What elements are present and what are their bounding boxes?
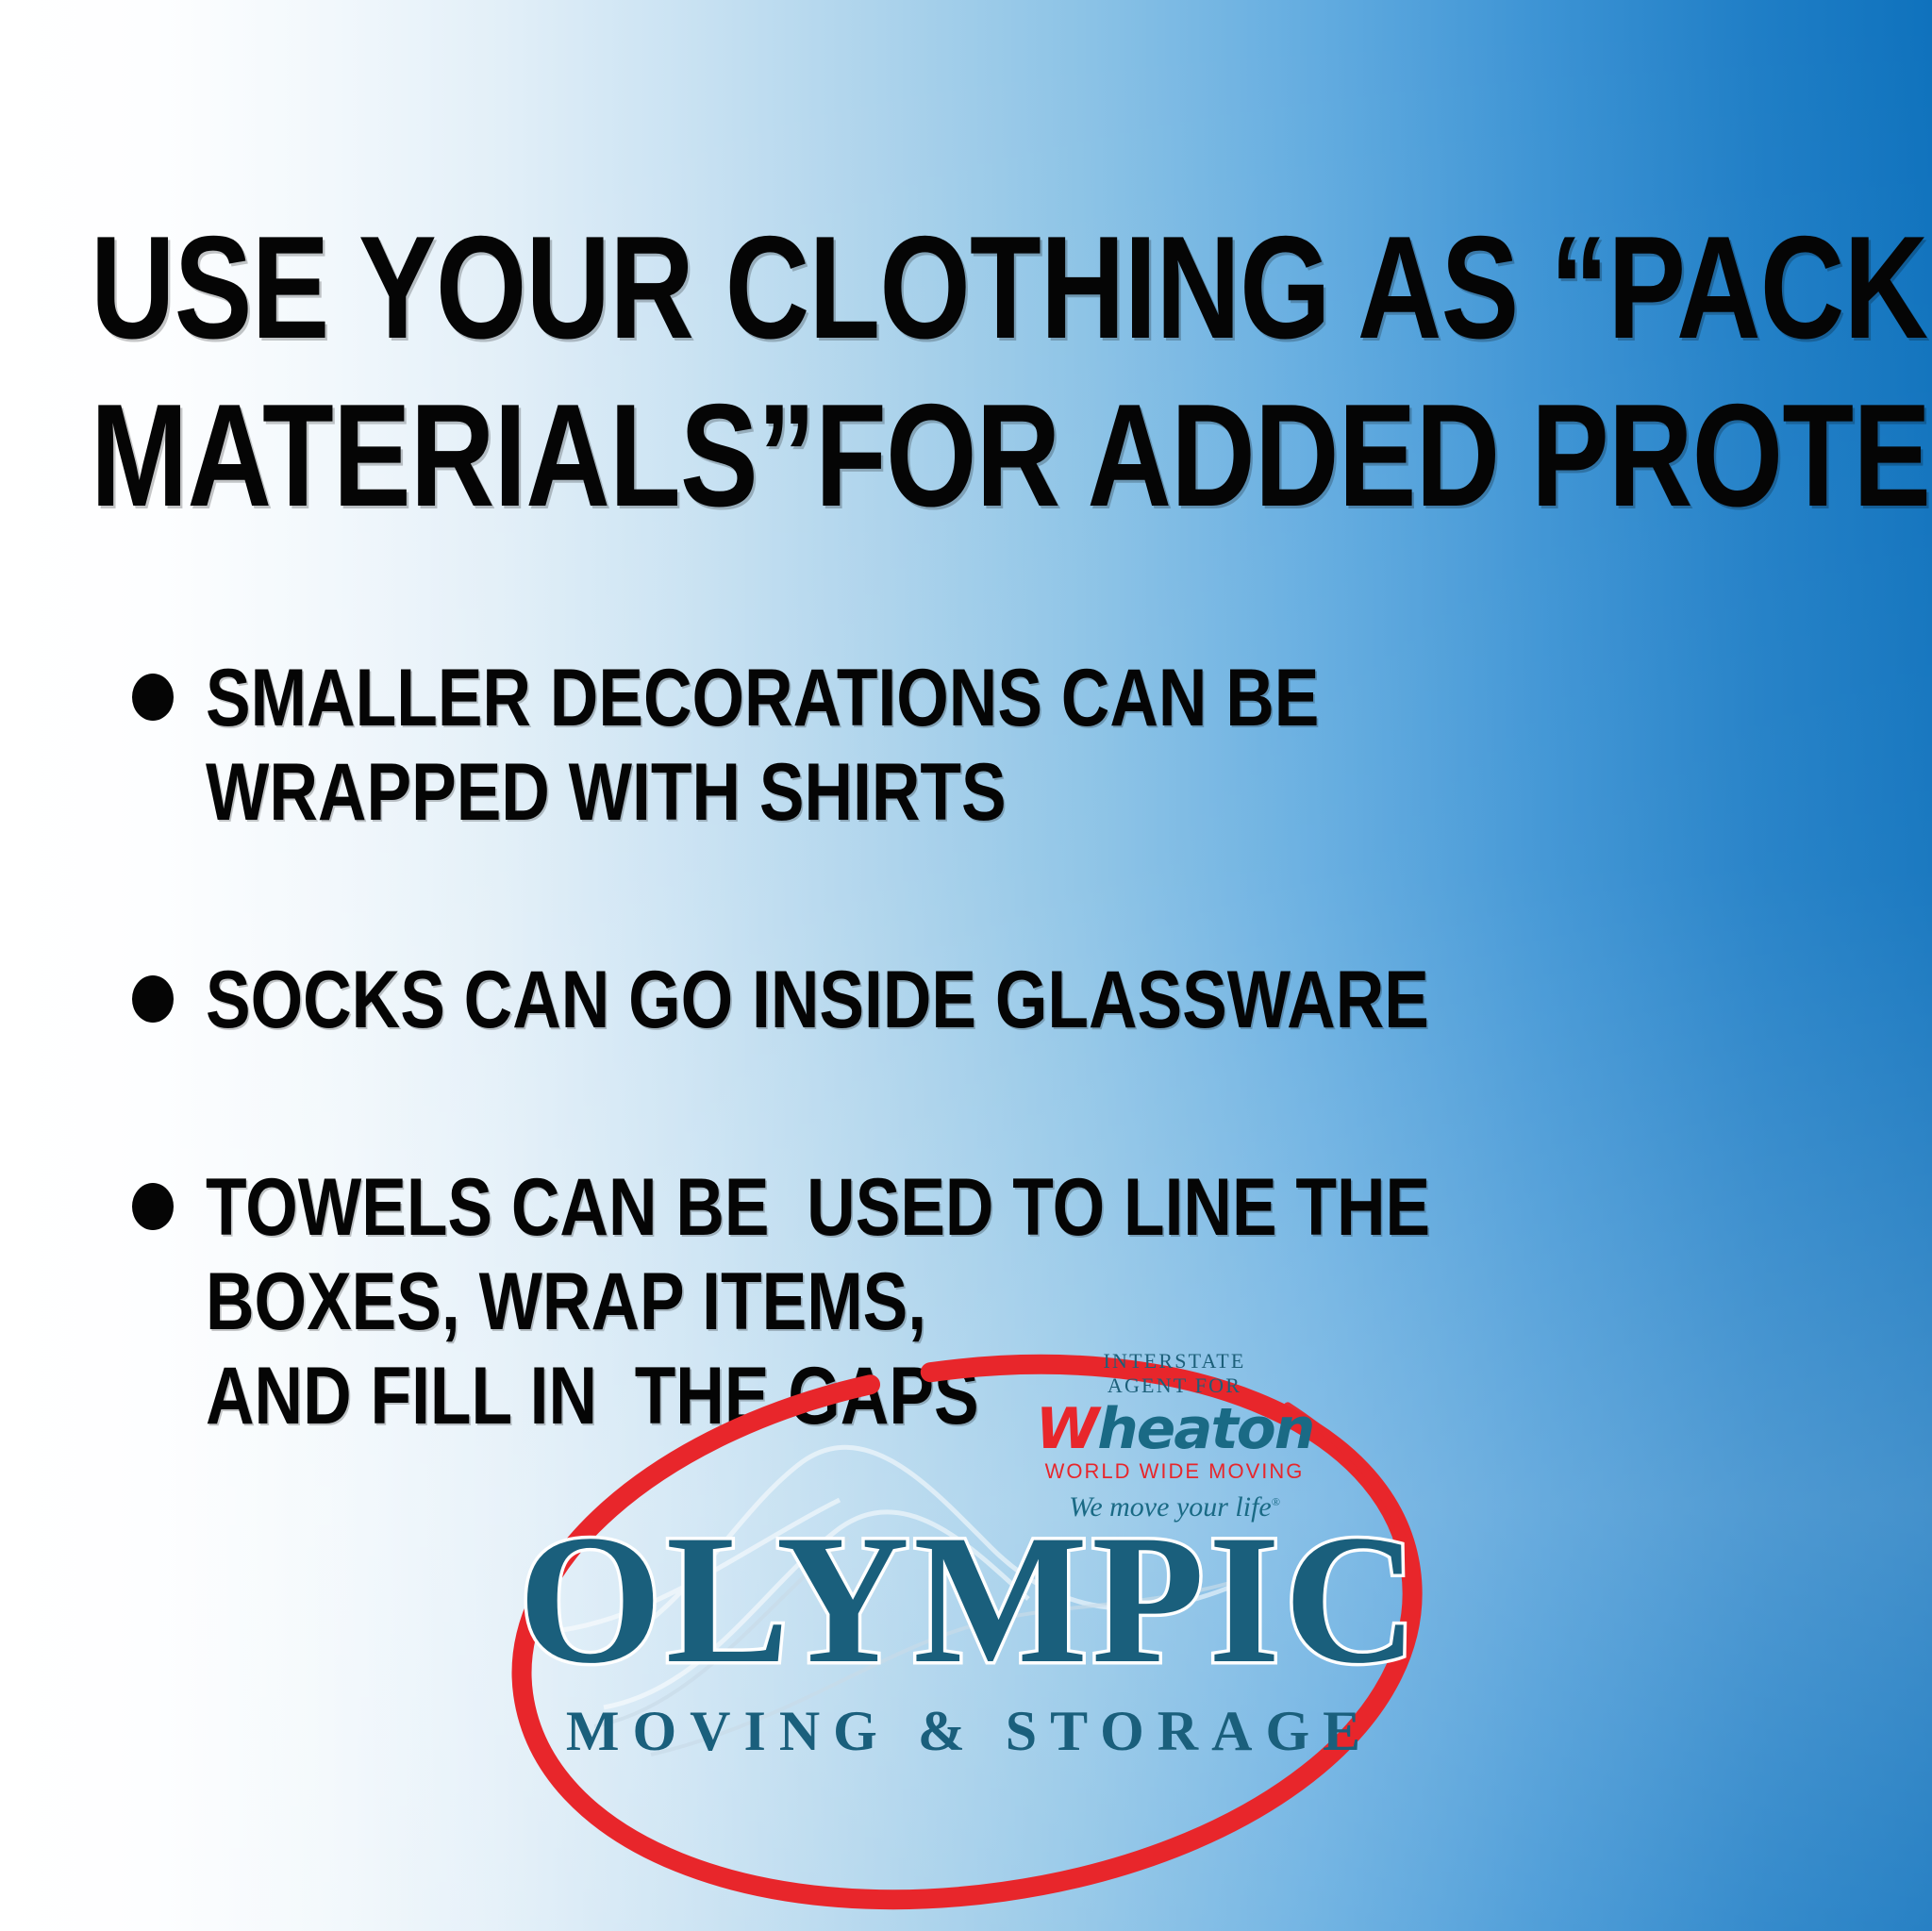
wheaton-wordmark: Wheaton <box>1011 1400 1339 1458</box>
headline: USE YOUR CLOTHING AS “PACKING MATERIALS”… <box>91 204 1864 540</box>
list-item: SMALLER DECORATIONS CAN BE WRAPPED WITH … <box>132 651 1887 840</box>
company-logo: INTERSTATE AGENT FOR Wheaton WORLD WIDE … <box>462 1349 1472 1915</box>
list-item: SOCKS CAN GO INSIDE GLASSWARE <box>132 953 1887 1047</box>
wheaton-kicker-line-1: INTERSTATE <box>1014 1349 1335 1373</box>
bullet-dot-icon <box>132 674 174 721</box>
poster-canvas: USE YOUR CLOTHING AS “PACKING MATERIALS”… <box>0 0 1932 1931</box>
olympic-subtitle: MOVING & STORAGE <box>517 1700 1423 1762</box>
bullet-dot-icon <box>132 1183 174 1230</box>
bullet-dot-icon <box>132 975 174 1023</box>
wheaton-kicker-line-2: AGENT FOR <box>1014 1373 1335 1398</box>
bullet-text-1: SMALLER DECORATIONS CAN BE WRAPPED WITH … <box>206 651 1601 840</box>
wheaton-rest-letters: heaton <box>1097 1396 1313 1462</box>
headline-line-2: MATERIALS”FOR ADDED PROTECTION <box>91 372 1509 540</box>
olympic-wordmark: OLYMPIC <box>517 1506 1423 1694</box>
bullet-text-2: SOCKS CAN GO INSIDE GLASSWARE <box>206 953 1601 1047</box>
wheaton-subtitle: WORLD WIDE MOVING <box>1014 1459 1335 1484</box>
wheaton-w-letter: W <box>1036 1396 1097 1462</box>
headline-line-1: USE YOUR CLOTHING AS “PACKING <box>91 204 1509 372</box>
